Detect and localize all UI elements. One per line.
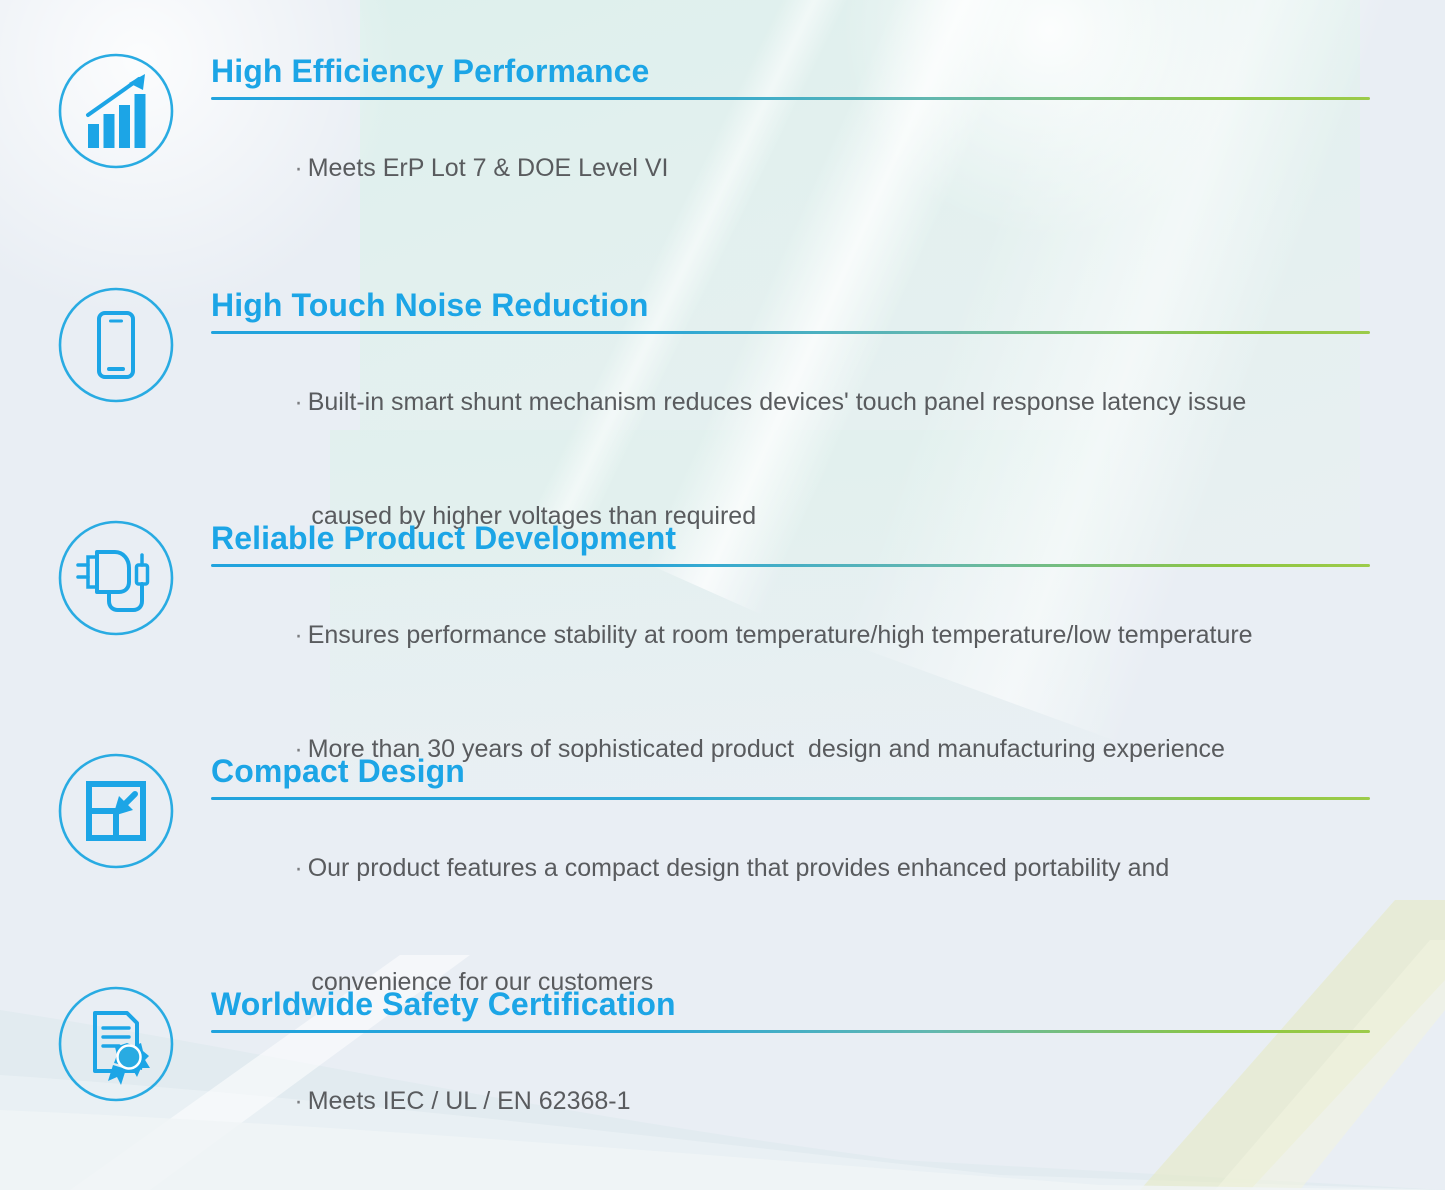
- feature-body: Worldwide Safety Certification ·Meets IE…: [211, 985, 1371, 1158]
- smartphone-icon: [57, 286, 175, 404]
- feature-line: ·Ensures performance stability at room t…: [211, 578, 1371, 692]
- feature-line: ·Meets ErP Lot 7 & DOE Level VI: [211, 111, 1371, 225]
- power-adapter-icon: [57, 519, 175, 637]
- bullet-icon: ·: [294, 1087, 302, 1115]
- feature-title: Worldwide Safety Certification: [211, 985, 1371, 1023]
- certificate-award-icon: [57, 985, 175, 1103]
- feature-description: ·Meets ErP Lot 7 & DOE Level VI: [211, 111, 1371, 225]
- feature-divider: [211, 1030, 1370, 1033]
- feature-line-text: Meets IEC / UL / EN 62368-1: [308, 1087, 631, 1115]
- feature-highlights-page: High Efficiency Performance ·Meets ErP L…: [0, 0, 1445, 1190]
- feature-line: ·Built-in smart shunt mechanism reduces …: [211, 345, 1371, 459]
- feature-line-text: Built-in smart shunt mechanism reduces d…: [308, 388, 1247, 416]
- feature-divider: [211, 331, 1370, 334]
- feature-line-text: Ensures performance stability at room te…: [308, 621, 1253, 649]
- feature-title: Compact Design: [211, 752, 1371, 790]
- bullet-icon: ·: [294, 154, 302, 182]
- feature-line: ·Our product features a compact design t…: [211, 811, 1371, 925]
- bullet-icon: ·: [294, 621, 302, 649]
- feature-description: ·Meets IEC / UL / EN 62368-1: [211, 1044, 1371, 1158]
- bullet-icon: ·: [294, 854, 302, 882]
- feature-divider: [211, 797, 1370, 800]
- feature-divider: [211, 564, 1370, 567]
- feature-line-text: Meets ErP Lot 7 & DOE Level VI: [308, 154, 669, 182]
- bullet-icon: ·: [294, 388, 302, 416]
- feature-list: High Efficiency Performance ·Meets ErP L…: [0, 0, 1445, 1190]
- feature-title: High Efficiency Performance: [211, 52, 1371, 90]
- feature-line-text: Our product features a compact design th…: [308, 854, 1170, 882]
- feature-body: High Efficiency Performance ·Meets ErP L…: [211, 52, 1371, 225]
- feature-title: High Touch Noise Reduction: [211, 286, 1371, 324]
- feature-line: ·Meets IEC / UL / EN 62368-1: [211, 1044, 1371, 1158]
- compact-shrink-icon: [57, 752, 175, 870]
- growth-bar-chart-icon: [57, 52, 175, 170]
- feature-title: Reliable Product Development: [211, 519, 1371, 557]
- feature-divider: [211, 97, 1370, 100]
